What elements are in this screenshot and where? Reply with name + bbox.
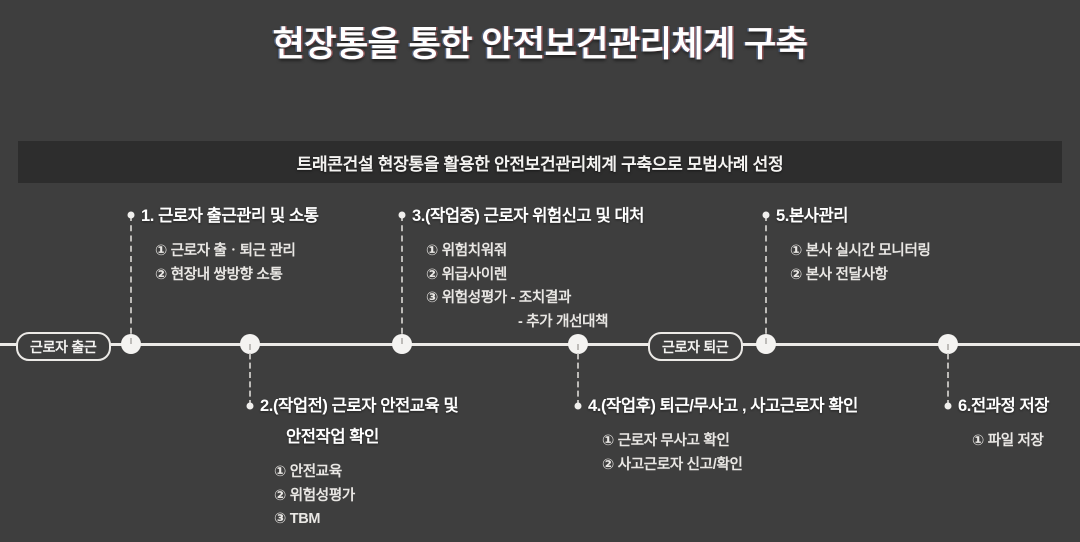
item-3-sub-4: - 추가 개선대책 (426, 311, 644, 334)
connector-item-3 (401, 215, 403, 344)
connector-item-6 (947, 344, 949, 406)
timeline-item-5: 5.본사관리 ① 본사 실시간 모니터링 ② 본사 전달사항 (776, 206, 931, 287)
timeline-item-2: 2.(작업전) 근로자 안전교육 및 안전작업 확인 ① 안전교육 ② 위험성평… (260, 396, 458, 532)
timeline-item-1: 1. 근로자 출근관리 및 소통 ① 근로자 출ㆍ퇴근 관리 ② 현장내 쌍방향… (141, 206, 319, 287)
item-1-title: 1. 근로자 출근관리 및 소통 (141, 206, 319, 227)
item-2-title: 2.(작업전) 근로자 안전교육 및 (260, 396, 458, 417)
bullet-item-1 (128, 212, 135, 219)
timeline-item-6: 6.전과정 저장 ① 파일 저장 (958, 396, 1049, 454)
connector-item-1 (130, 215, 132, 344)
item-6-title: 6.전과정 저장 (958, 396, 1049, 417)
item-2-title-line2: 안전작업 확인 (260, 427, 458, 448)
timeline-item-4: 4.(작업후) 퇴근/무사고 , 사고근로자 확인 ① 근로자 무사고 확인 ②… (588, 396, 858, 477)
item-3-sub-3: ③ 위험성평가 - 조치결과 (426, 287, 644, 310)
item-4-sub-2: ② 사고근로자 신고/확인 (602, 454, 858, 477)
item-2-sub-2: ② 위험성평가 (274, 485, 458, 508)
item-3-sub-1: ① 위험치워줘 (426, 240, 644, 263)
item-6-sublist: ① 파일 저장 (958, 430, 1049, 453)
timeline-axis (0, 343, 1080, 346)
item-3-title: 3.(작업중) 근로자 위험신고 및 대처 (412, 206, 644, 227)
bullet-item-3 (399, 212, 406, 219)
item-4-sublist: ① 근로자 무사고 확인 ② 사고근로자 신고/확인 (588, 430, 858, 477)
item-2-sub-3: ③ TBM (274, 508, 458, 531)
item-3-sub-2: ② 위급사이렌 (426, 264, 644, 287)
bullet-item-2 (247, 403, 254, 410)
bullet-item-5 (763, 212, 770, 219)
item-1-sub-1: ① 근로자 출ㆍ퇴근 관리 (155, 240, 319, 263)
item-6-sub-1: ① 파일 저장 (972, 430, 1049, 453)
item-3-sublist: ① 위험치워줘 ② 위급사이렌 ③ 위험성평가 - 조치결과 - 추가 개선대책 (412, 240, 644, 334)
connector-item-5 (765, 215, 767, 344)
bullet-item-6 (945, 403, 952, 410)
timeline-item-3: 3.(작업중) 근로자 위험신고 및 대처 ① 위험치워줘 ② 위급사이렌 ③ … (412, 206, 644, 334)
slide-root: { "slide": { "title": "현장통을 통한 안전보건관리체계 … (0, 0, 1080, 542)
connector-item-2 (249, 344, 251, 406)
connector-item-4 (577, 344, 579, 406)
item-4-sub-1: ① 근로자 무사고 확인 (602, 430, 858, 453)
page-title: 현장통을 통한 안전보건관리체계 구축 (0, 16, 1080, 67)
item-5-sub-1: ① 본사 실시간 모니터링 (790, 240, 931, 263)
subtitle-text: 트래콘건설 현장통을 활용한 안전보건관리체계 구축으로 모범사례 선정 (297, 150, 784, 175)
item-4-title: 4.(작업후) 퇴근/무사고 , 사고근로자 확인 (588, 396, 858, 417)
item-5-sublist: ① 본사 실시간 모니터링 ② 본사 전달사항 (776, 240, 931, 287)
item-1-sub-2: ② 현장내 쌍방향 소통 (155, 264, 319, 287)
item-5-sub-2: ② 본사 전달사항 (790, 264, 931, 287)
item-1-sublist: ① 근로자 출ㆍ퇴근 관리 ② 현장내 쌍방향 소통 (141, 240, 319, 287)
item-5-title: 5.본사관리 (776, 206, 931, 227)
bullet-item-4 (575, 403, 582, 410)
pill-start-label: 근로자 출근 (16, 332, 111, 361)
subtitle-band: 트래콘건설 현장통을 활용한 안전보건관리체계 구축으로 모범사례 선정 (18, 141, 1062, 183)
item-2-sublist: ① 안전교육 ② 위험성평가 ③ TBM (260, 461, 458, 531)
item-2-sub-1: ① 안전교육 (274, 461, 458, 484)
pill-end-label: 근로자 퇴근 (648, 332, 743, 361)
